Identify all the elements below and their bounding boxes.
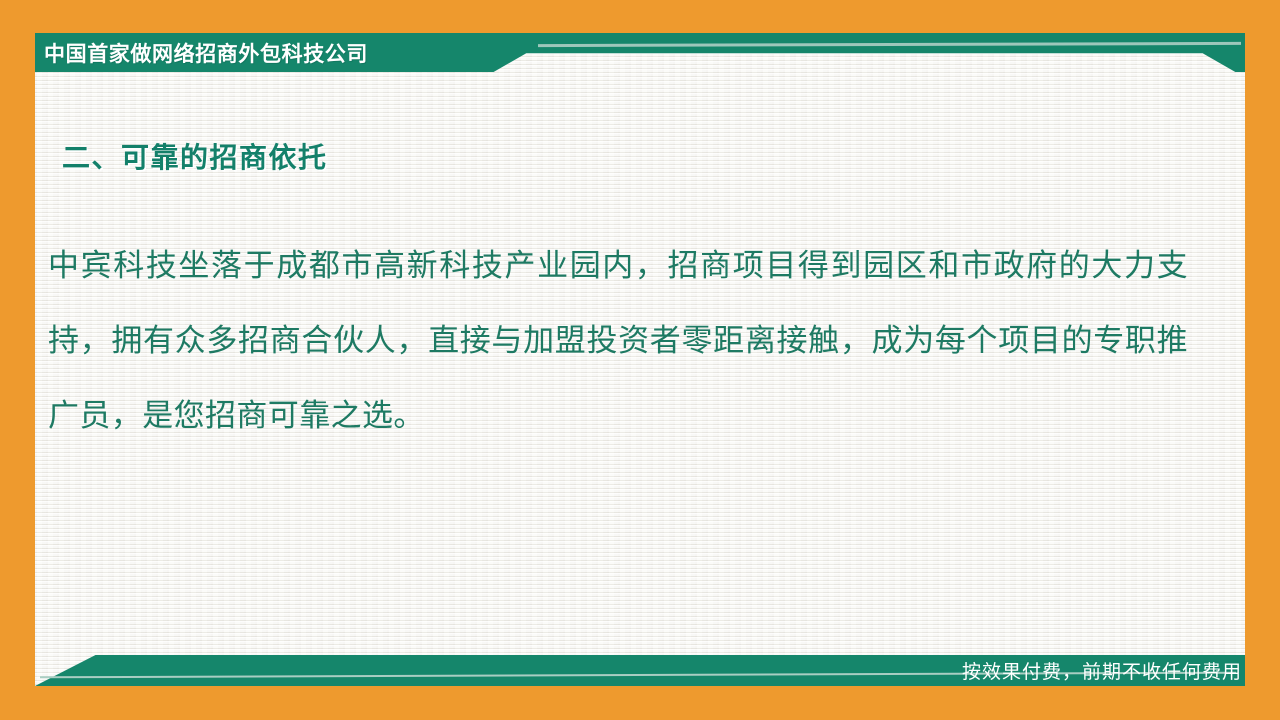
body-paragraph: 中宾科技坐落于成都市高新科技产业园内，招商项目得到园区和市政府的大力支持，拥有众… <box>48 228 1188 453</box>
footer-tagline: 按效果付费，前期不收任何费用 <box>962 655 1242 686</box>
slide-canvas: 中国首家做网络招商外包科技公司 二、可靠的招商依托 中宾科技坐落于成都市高新科技… <box>0 0 1280 720</box>
section-heading: 二、可靠的招商依托 <box>62 136 328 176</box>
header-title: 中国首家做网络招商外包科技公司 <box>44 33 368 72</box>
